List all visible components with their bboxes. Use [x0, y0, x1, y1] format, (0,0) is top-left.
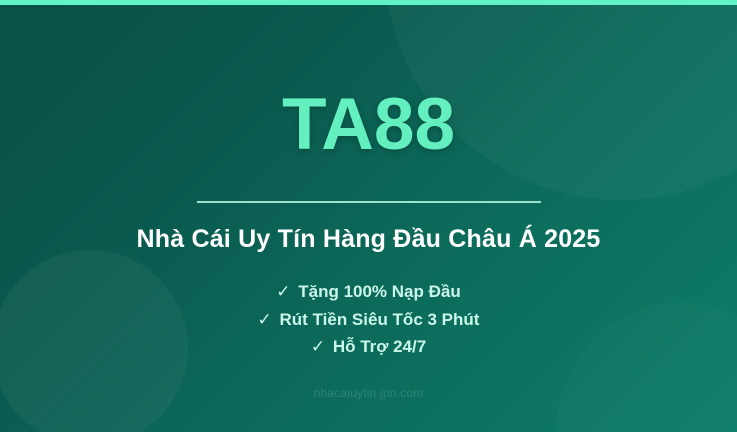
brand-title: TA88	[282, 0, 455, 161]
list-item: ✓ Rút Tiền Siêu Tốc 3 Phút	[258, 306, 480, 334]
feature-label: Tặng 100% Nạp Đầu	[298, 282, 461, 301]
top-accent-bar	[0, 0, 737, 5]
title-divider	[197, 201, 541, 203]
tagline: Nhà Cái Uy Tín Hàng Đầu Châu Á 2025	[136, 203, 600, 254]
check-icon: ✓	[311, 333, 325, 361]
check-icon: ✓	[276, 278, 290, 306]
banner-content: TA88 Nhà Cái Uy Tín Hàng Đầu Châu Á 2025…	[0, 0, 737, 432]
promo-banner: TA88 Nhà Cái Uy Tín Hàng Đầu Châu Á 2025…	[0, 0, 737, 432]
feature-list: ✓ Tặng 100% Nạp Đầu ✓ Rút Tiền Siêu Tốc …	[258, 254, 480, 361]
feature-label: Hỗ Trợ 24/7	[333, 337, 426, 356]
list-item: ✓ Tặng 100% Nạp Đầu	[258, 278, 480, 306]
footer-domain: nhacaiuytin.jpn.com	[0, 386, 737, 400]
feature-label: Rút Tiền Siêu Tốc 3 Phút	[280, 310, 480, 329]
list-item: ✓ Hỗ Trợ 24/7	[258, 333, 480, 361]
check-icon: ✓	[258, 306, 272, 334]
